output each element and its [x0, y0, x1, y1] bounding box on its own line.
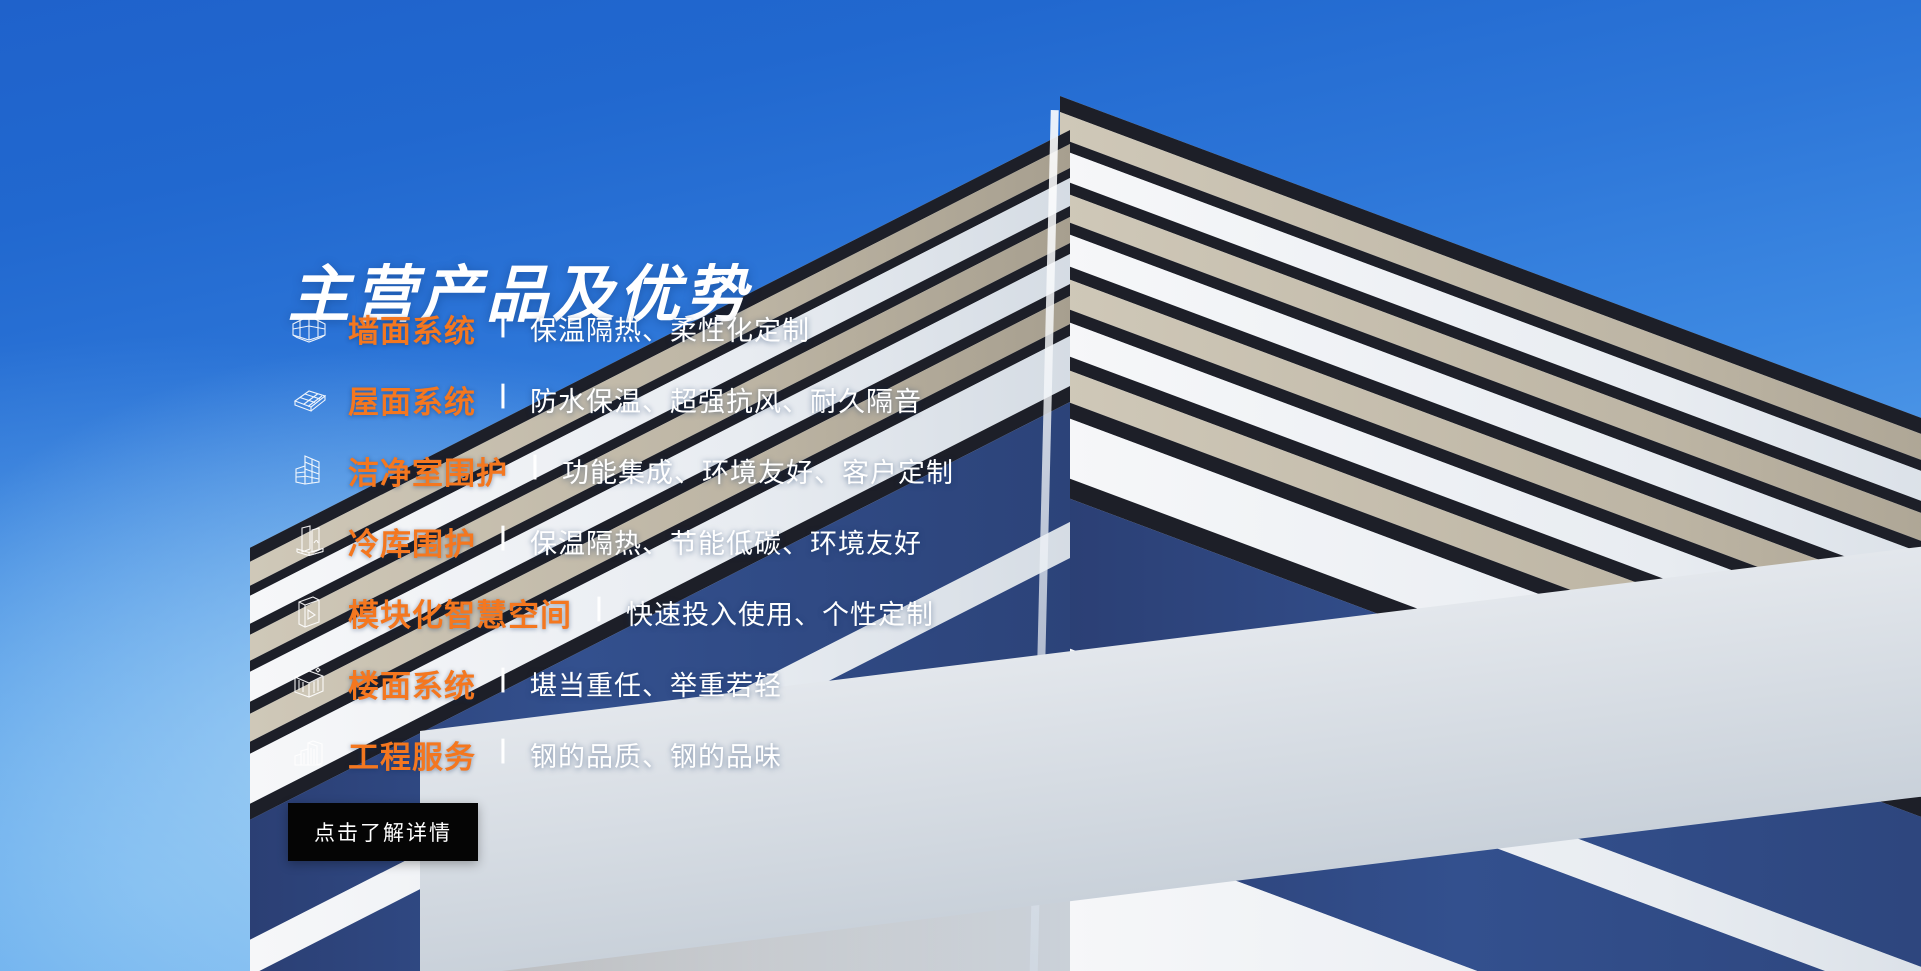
product-name: 楼面系统	[348, 661, 476, 706]
separator-bar: 丨	[490, 313, 516, 339]
product-description: 防水保温、超强抗风、耐久隔音	[530, 380, 922, 419]
separator-bar: 丨	[586, 597, 612, 623]
wall-panel-icon	[288, 307, 330, 349]
separator-bar: 丨	[490, 739, 516, 765]
product-name: 屋面系统	[348, 377, 476, 422]
product-name: 冷库围护	[348, 519, 476, 564]
list-item[interactable]: 工程服务 丨 钢的品质、钢的品味	[288, 731, 954, 777]
floor-system-icon	[288, 662, 330, 704]
separator-bar: 丨	[490, 384, 516, 410]
product-name: 模块化智慧空间	[348, 590, 572, 635]
cleanroom-icon	[288, 449, 330, 491]
product-name: 墙面系统	[348, 306, 476, 351]
list-item[interactable]: 模块化智慧空间 丨 快速投入使用、个性定制	[288, 589, 954, 635]
modular-space-icon	[288, 591, 330, 633]
cold-storage-icon	[288, 520, 330, 562]
list-item[interactable]: 楼面系统 丨 堪当重任、举重若轻	[288, 660, 954, 706]
product-description: 保温隔热、节能低碳、环境友好	[530, 522, 922, 561]
list-item[interactable]: 冷库围护 丨 保温隔热、节能低碳、环境友好	[288, 518, 954, 564]
product-list: 墙面系统 丨 保温隔热、柔性化定制 屋面系统 丨 防水保温、超强抗风、耐久隔音	[288, 305, 954, 802]
engineering-icon	[288, 733, 330, 775]
separator-bar: 丨	[522, 455, 548, 481]
separator-bar: 丨	[490, 526, 516, 552]
list-item[interactable]: 洁净室围护 丨 功能集成、环境友好、客户定制	[288, 447, 954, 493]
promo-banner: 主营产品及优势 墙面系统 丨 保温隔热、柔性化定制	[0, 0, 1921, 971]
separator-bar: 丨	[490, 668, 516, 694]
list-item[interactable]: 屋面系统 丨 防水保温、超强抗风、耐久隔音	[288, 376, 954, 422]
product-name: 工程服务	[348, 732, 476, 777]
product-description: 快速投入使用、个性定制	[626, 593, 934, 632]
product-description: 钢的品质、钢的品味	[530, 735, 782, 774]
product-name: 洁净室围护	[348, 448, 508, 493]
product-description: 功能集成、环境友好、客户定制	[562, 451, 954, 490]
roof-panel-icon	[288, 378, 330, 420]
list-item[interactable]: 墙面系统 丨 保温隔热、柔性化定制	[288, 305, 954, 351]
product-description: 保温隔热、柔性化定制	[530, 309, 810, 348]
learn-more-button[interactable]: 点击了解详情	[288, 803, 478, 861]
product-description: 堪当重任、举重若轻	[530, 664, 782, 703]
